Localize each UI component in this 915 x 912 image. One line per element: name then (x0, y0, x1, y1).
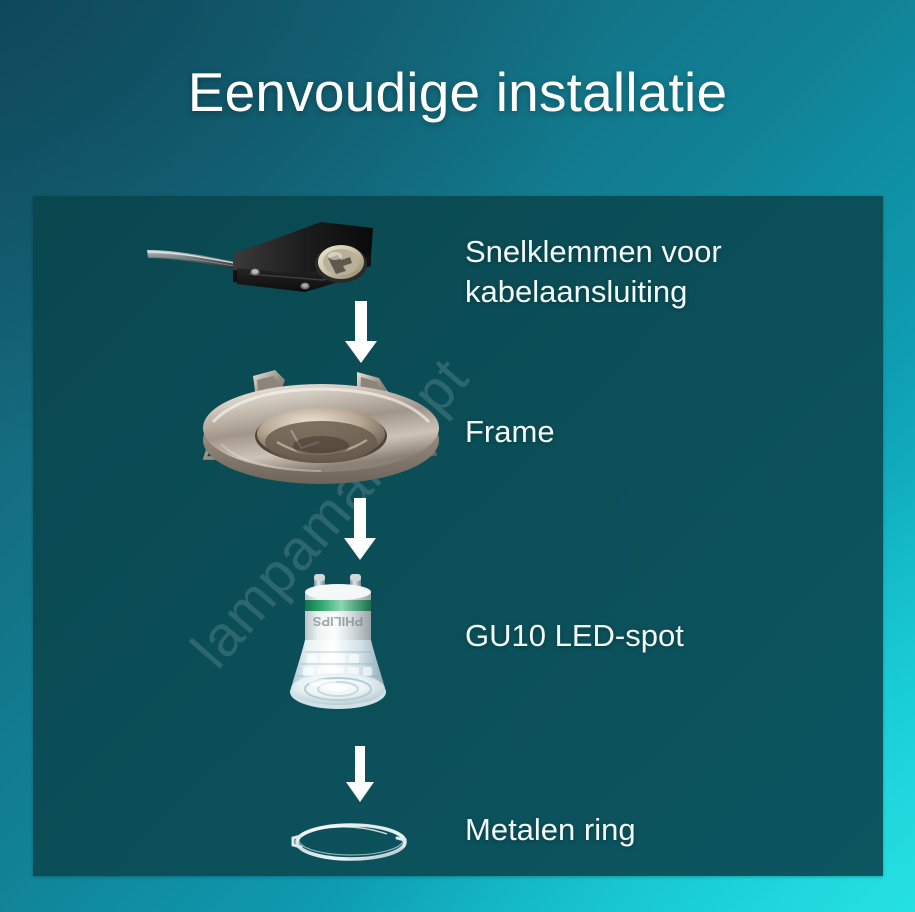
step-label-metal-ring: Metalen ring (465, 810, 636, 850)
step-label-gu10-led-spot: GU10 LED-spot (465, 616, 684, 656)
recessed-downlight-frame-image (191, 358, 451, 498)
arrow-down-2 (337, 498, 383, 560)
step-label-quick-connectors: Snelklemmen voor kabelaansluiting (465, 232, 722, 311)
arrow-down-3 (340, 746, 380, 802)
page-title: Eenvoudige installatie (0, 60, 915, 124)
arrow-down-1 (338, 301, 384, 363)
cable-connector-block-image (145, 214, 385, 304)
installation-diagram-panel: lampamania.pt (33, 196, 883, 876)
metal-retaining-ring-image (285, 814, 415, 870)
gu10-led-bulb-image: PHILIPS (261, 570, 421, 730)
step-label-frame: Frame (465, 412, 555, 452)
bulb-brand-text: PHILIPS (312, 614, 363, 629)
